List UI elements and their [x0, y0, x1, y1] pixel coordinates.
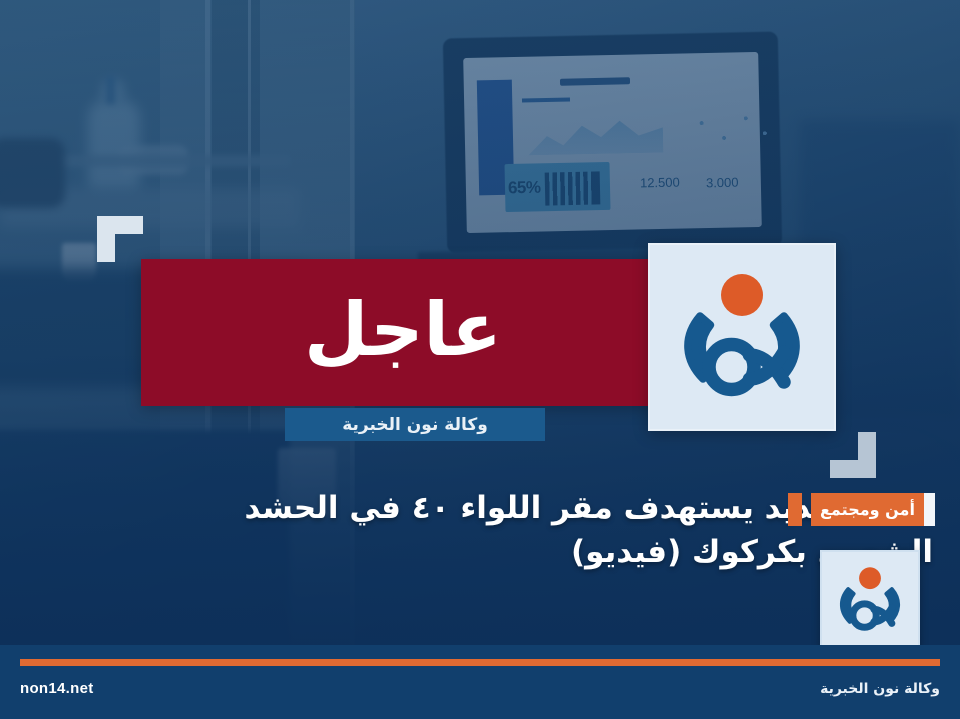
- corner-bracket-top-left: [97, 216, 143, 262]
- category-end-cap: [924, 493, 935, 526]
- agency-logo-large: [648, 243, 836, 431]
- category-label: أمن ومجتمع: [811, 493, 924, 526]
- corner-bracket-bottom-right: [830, 432, 876, 478]
- news-card: 65% 12.500 3.000 عاجل وكالة نون الخبرية: [0, 0, 960, 719]
- agency-banner: وكالة نون الخبرية: [285, 408, 545, 441]
- category-tick-icon: [788, 493, 802, 526]
- noon-logo-icon: [831, 561, 909, 639]
- agency-label: وكالة نون الخبرية: [342, 415, 488, 435]
- footer-agency-name: وكالة نون الخبرية: [820, 681, 940, 697]
- noon-logo-icon: [667, 262, 817, 412]
- category-badge[interactable]: أمن ومجتمع: [788, 493, 935, 526]
- footer: non14.net وكالة نون الخبرية: [0, 645, 960, 719]
- agency-logo-small: [820, 550, 920, 650]
- footer-divider: [20, 659, 940, 666]
- urgent-label: عاجل: [304, 293, 502, 373]
- urgent-banner: عاجل: [141, 259, 665, 406]
- footer-site-url[interactable]: non14.net: [20, 680, 94, 697]
